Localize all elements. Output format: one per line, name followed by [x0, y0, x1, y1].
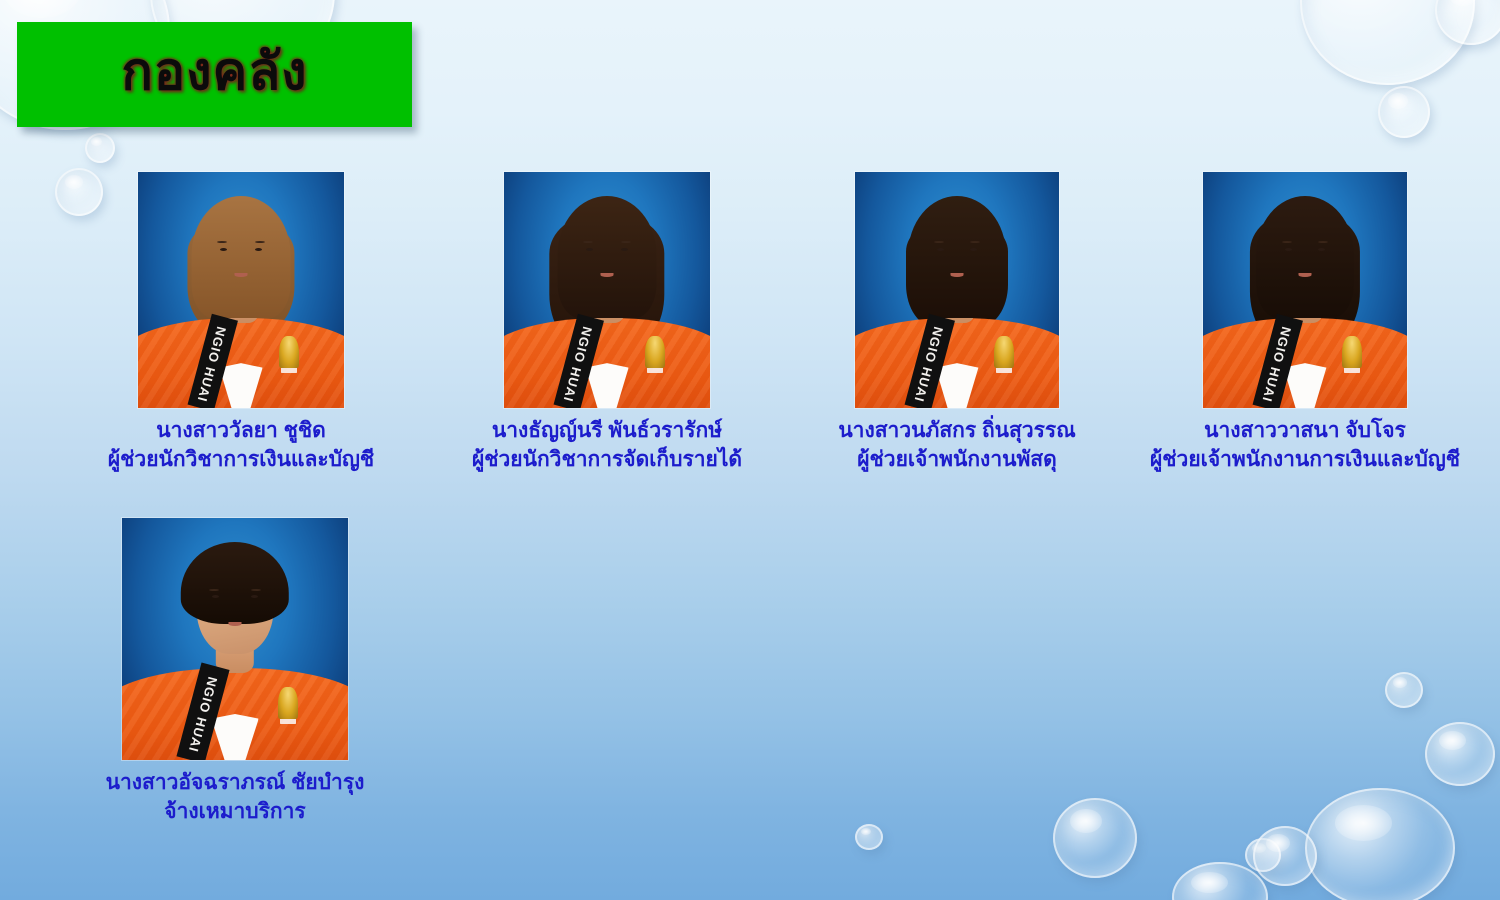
uniform-emblem-icon [1342, 336, 1362, 368]
bubble-icon [1385, 672, 1423, 708]
collar-placket-shape [601, 373, 613, 408]
uniform-emblem-icon [994, 336, 1014, 368]
eye-left [220, 248, 227, 251]
mouth-shape [235, 273, 248, 277]
eye-right [621, 248, 628, 251]
person-name: นางสาวนภัสกร ถิ่นสุวรรณ [838, 419, 1075, 442]
person-caption: นางสาววัลยา ชูชิด ผู้ช่วยนักวิชาการเงินแ… [41, 416, 441, 475]
bubble-icon [1172, 862, 1268, 900]
bubble-icon [1300, 0, 1475, 85]
page-title: กองคลัง [121, 46, 307, 104]
person-card[interactable]: NGIO HUAI นางสาวอัจฉราภรณ์ ชัยบำรุง จ้าง… [45, 518, 425, 827]
eye-left [1285, 248, 1292, 251]
title-banner: กองคลัง [17, 22, 412, 127]
hair-shape [181, 542, 289, 624]
bubble-icon [1435, 0, 1500, 45]
person-caption: นางสาวอัจฉราภรณ์ ชัยบำรุง จ้างเหมาบริการ [45, 768, 425, 827]
bubble-icon [1305, 788, 1455, 900]
person-card[interactable]: NGIO HUAI นางสาววัลยา ชูชิด ผู้ช่วยนักวิ… [41, 172, 441, 475]
eye-right [970, 248, 977, 251]
person-card[interactable]: NGIO HUAI นางสาวนภัสกร ถิ่นสุวรรณ ผู้ช่ว… [757, 172, 1157, 475]
collar-placket-shape [228, 724, 242, 760]
portrait-photo: NGIO HUAI [504, 172, 710, 408]
collar-placket-shape [1299, 373, 1311, 408]
uniform-emblem-icon [279, 336, 299, 368]
person-name: นางธัญญ์นรี พันธ์วรารักษ์ [492, 419, 722, 442]
uniform-emblem-icon [278, 687, 298, 719]
slide-canvas: กองคลัง NGIO HUAI นางสาววัลยา ชูชิด ผู้ช… [0, 0, 1500, 900]
person-name: นางสาววาสนา จับโจร [1204, 419, 1406, 442]
uniform-emblem-icon [645, 336, 665, 368]
portrait-photo: NGIO HUAI [1203, 172, 1407, 408]
hair-shape [192, 196, 291, 319]
person-role: ผู้ช่วยนักวิชาการจัดเก็บรายได้ [407, 445, 807, 474]
eye-left [937, 248, 944, 251]
bubble-icon [1053, 798, 1137, 878]
mouth-shape [601, 273, 614, 277]
portrait-photo: NGIO HUAI [855, 172, 1059, 408]
hair-shape [1256, 196, 1354, 319]
person-caption: นางสาววาสนา จับโจร ผู้ช่วยเจ้าพนักงานการ… [1105, 416, 1500, 475]
collar-placket-shape [951, 373, 963, 408]
mouth-shape [951, 273, 964, 277]
eye-right [1318, 248, 1325, 251]
bubble-icon [1245, 838, 1281, 872]
person-card[interactable]: NGIO HUAI นางธัญญ์นรี พันธ์วรารักษ์ ผู้ช… [407, 172, 807, 475]
eyebrow-left [209, 589, 219, 591]
mouth-shape [1299, 273, 1312, 277]
mouth-shape [229, 622, 242, 626]
person-role: ผู้ช่วยนักวิชาการเงินและบัญชี [41, 445, 441, 474]
person-role: จ้างเหมาบริการ [45, 797, 425, 826]
person-name: นางสาวอัจฉราภรณ์ ชัยบำรุง [106, 771, 365, 794]
bubble-icon [855, 824, 883, 850]
portrait-photo: NGIO HUAI [138, 172, 344, 408]
portrait-photo: NGIO HUAI [122, 518, 348, 760]
person-name: นางสาววัลยา ชูชิด [156, 419, 326, 442]
person-card[interactable]: NGIO HUAI นางสาววาสนา จับโจร ผู้ช่วยเจ้า… [1105, 172, 1500, 475]
hair-shape [908, 196, 1006, 319]
bubble-icon [85, 133, 115, 163]
bubble-icon [1378, 86, 1430, 138]
person-role: ผู้ช่วยเจ้าพนักงานการเงินและบัญชี [1105, 445, 1500, 474]
person-role: ผู้ช่วยเจ้าพนักงานพัสดุ [757, 445, 1157, 474]
bubble-icon [1253, 826, 1317, 886]
eye-right [255, 248, 262, 251]
person-caption: นางสาวนภัสกร ถิ่นสุวรรณ ผู้ช่วยเจ้าพนักง… [757, 416, 1157, 475]
hair-shape [558, 196, 657, 319]
person-caption: นางธัญญ์นรี พันธ์วรารักษ์ ผู้ช่วยนักวิชา… [407, 416, 807, 475]
eyebrow-right [251, 589, 261, 591]
collar-placket-shape [235, 373, 247, 408]
eye-left [586, 248, 593, 251]
bubble-icon [1425, 722, 1495, 786]
